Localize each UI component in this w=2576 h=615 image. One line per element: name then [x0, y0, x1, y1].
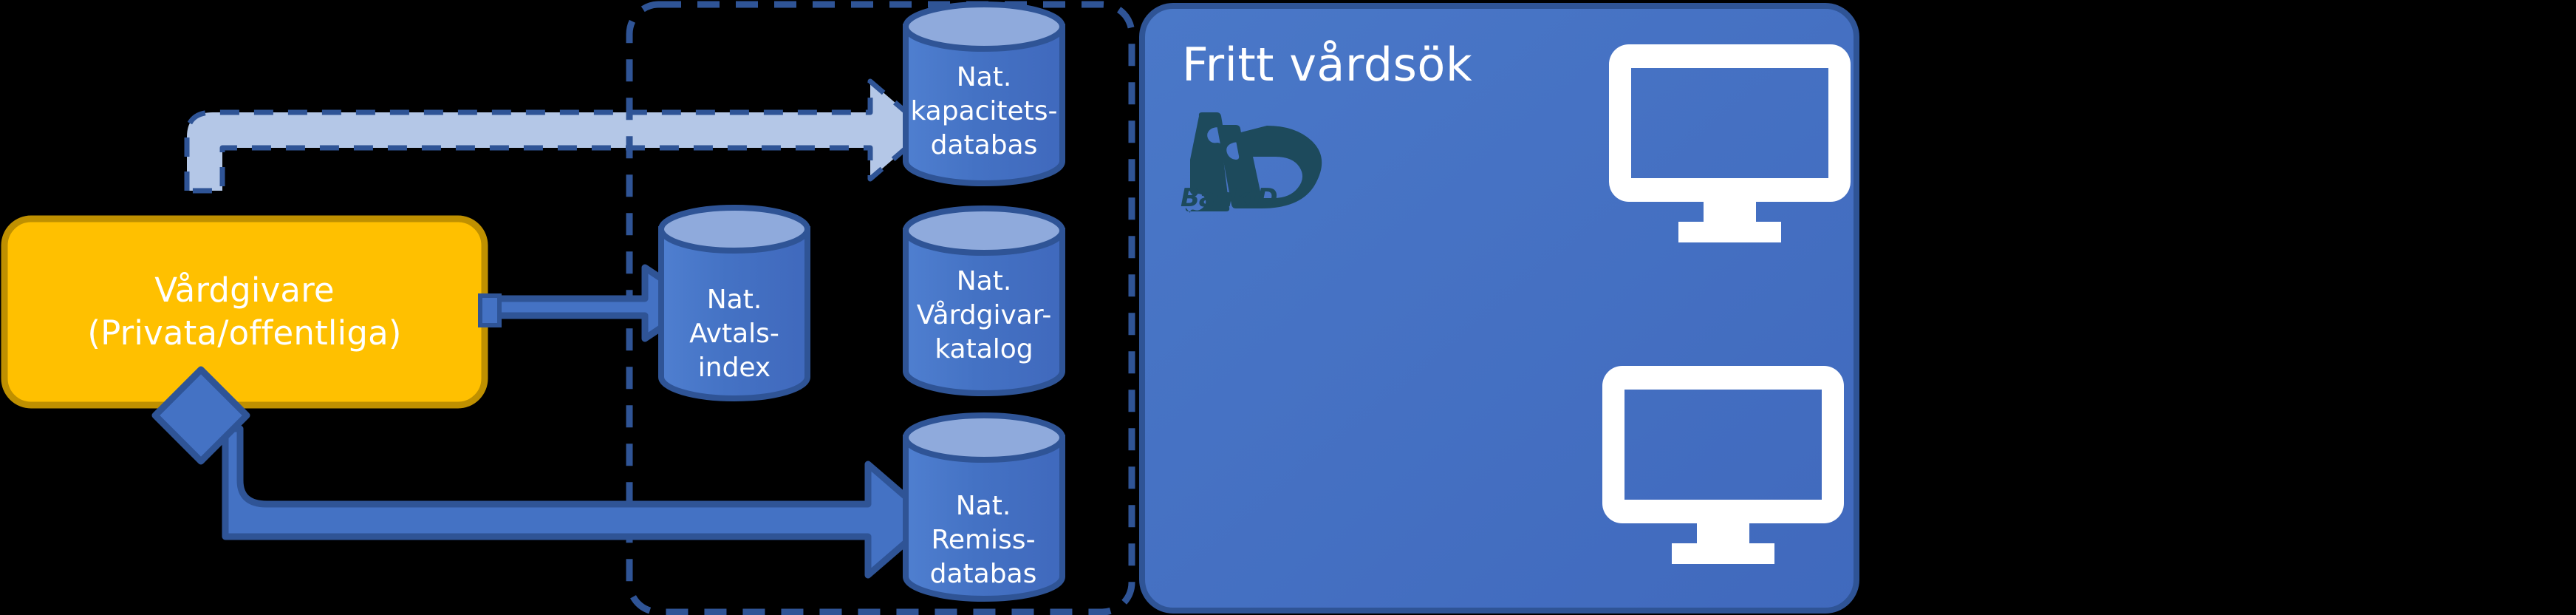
bankid-wordmark: BankID	[1181, 183, 1277, 213]
db-nat-vardgivarkatalog-label: Nat. Vårdgivar- katalog	[906, 265, 1062, 367]
db-nat-avtalsindex-label: Nat. Avtals- index	[658, 283, 810, 385]
db-nat-kapacitetsdatabas-label: Nat. kapacitets- databas	[906, 61, 1062, 163]
diagram-canvas: Vårdgivare (Privata/offentliga) Nat. kap…	[0, 0, 2576, 615]
vardgivare-box-label: Vårdgivare (Privata/offentliga)	[4, 269, 485, 354]
diagram-text: Vårdgivare (Privata/offentliga) Nat. kap…	[0, 0, 2576, 615]
db-nat-remissdatabas-label: Nat. Remiss- databas	[904, 489, 1062, 591]
panel-title: Fritt vårdsök	[1182, 35, 1699, 94]
